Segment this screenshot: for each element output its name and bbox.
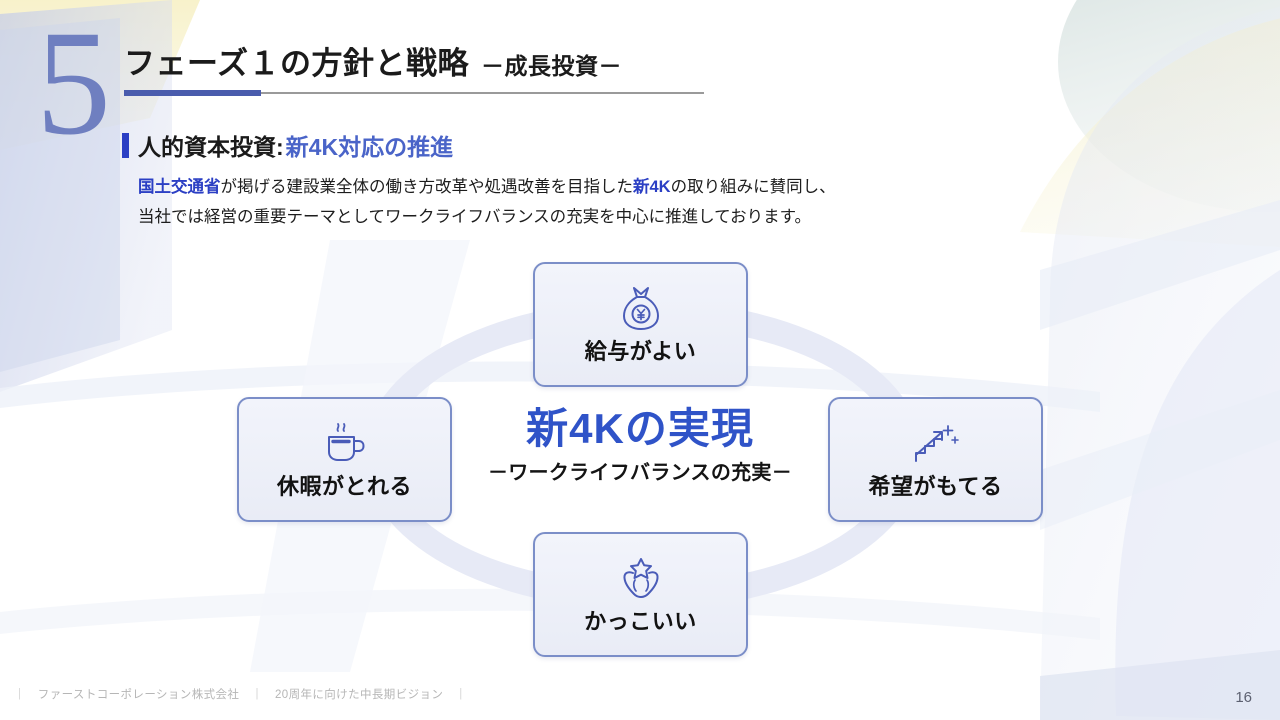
- shin4k-diagram: 新4Kの実現 －ワークライフバランスの充実－ 給与がよい: [0, 240, 1280, 670]
- section-heading-accent: 新4K対応の推進: [286, 128, 453, 162]
- page-title: フェーズ１の方針と戦略 －成長投資－: [124, 38, 622, 83]
- body-highlight-shin4k: 新4K: [633, 178, 671, 196]
- body-paragraph: 国土交通省が掲げる建設業全体の働き方改革や処遇改善を目指した新4Kの取り組みに賛…: [138, 172, 1038, 232]
- title-underline-accent: [124, 90, 261, 96]
- chapter-number: 5: [36, 8, 111, 158]
- section-heading-label: 人的資本投資:: [138, 128, 284, 162]
- title-underline: [124, 90, 704, 96]
- diagram-center-title: 新4Kの実現: [440, 405, 840, 452]
- diagram-card-label: かっこいい: [584, 604, 697, 636]
- footer-text: ｜ ファーストコーポレーション株式会社 ｜ 20周年に向けた中長期ビジョン ｜: [14, 686, 467, 702]
- hands-star-icon: [615, 554, 667, 602]
- body-line-1: 国土交通省が掲げる建設業全体の働き方改革や処遇改善を目指した新4Kの取り組みに賛…: [138, 172, 1038, 202]
- diagram-card-label: 希望がもてる: [868, 469, 1002, 501]
- page-title-main: フェーズ１の方針と戦略: [124, 38, 469, 83]
- body-line-2: 当社では経営の重要テーマとしてワークライフバランスの充実を中心に推進しております…: [138, 202, 1038, 232]
- money-bag-yen-icon: [619, 284, 663, 332]
- body-highlight-ministry: 国土交通省: [138, 178, 221, 196]
- diagram-card-label: 給与がよい: [585, 334, 696, 366]
- corner-cream-swoosh: [1020, 10, 1280, 250]
- corner-teal-blob: [1058, 0, 1280, 212]
- slide-canvas: 5 フェーズ１の方針と戦略 －成長投資－ 人的資本投資: 新4K対応の推進 国土…: [0, 0, 1280, 720]
- diagram-center: 新4Kの実現 －ワークライフバランスの充実－: [440, 405, 840, 485]
- title-underline-thin: [261, 92, 704, 94]
- diagram-card-cool[interactable]: かっこいい: [533, 532, 748, 657]
- diagram-card-holiday[interactable]: 休暇がとれる: [237, 397, 452, 522]
- page-number: 16: [1235, 689, 1252, 706]
- stairs-arrow-sparkle-icon: [910, 419, 962, 467]
- diagram-card-hope[interactable]: 希望がもてる: [828, 397, 1043, 522]
- diagram-card-salary[interactable]: 給与がよい: [533, 262, 748, 387]
- section-accent-bar: [122, 133, 129, 158]
- diagram-center-subtitle: －ワークライフバランスの充実－: [440, 456, 840, 485]
- section-heading: 人的資本投資: 新4K対応の推進: [122, 128, 453, 162]
- page-title-suffix: －成長投資－: [481, 47, 622, 81]
- body-line-1-post: の取り組みに賛同し、: [671, 178, 836, 196]
- coffee-mug-icon: [321, 419, 369, 467]
- diagram-card-label: 休暇がとれる: [277, 469, 412, 501]
- body-line-1-mid: が掲げる建設業全体の働き方改革や処遇改善を目指した: [221, 178, 634, 196]
